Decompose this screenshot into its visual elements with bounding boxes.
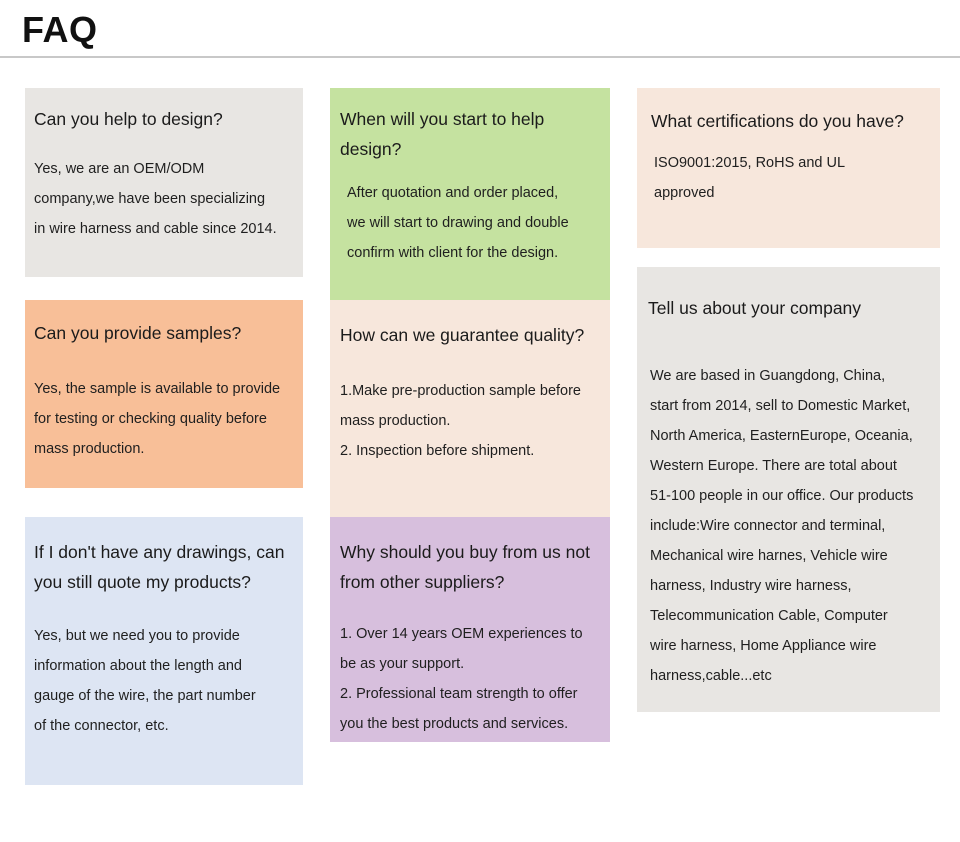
faq-question: What certifications do you have? [651,106,926,136]
page-title: FAQ [22,8,98,52]
faq-answer: After quotation and order placed, we wil… [347,178,596,268]
faq-question: Why should you buy from us not from othe… [340,537,596,597]
faq-answer: Yes, the sample is available to provide … [34,374,289,464]
faq-card-drawings: If I don't have any drawings, can you st… [25,517,303,785]
faq-question: Tell us about your company [648,293,926,323]
faq-question: Can you help to design? [34,104,287,134]
faq-card-start-design: When will you start to help design? Afte… [330,88,610,306]
faq-card-samples: Can you provide samples? Yes, the sample… [25,300,303,488]
faq-answer: 1. Over 14 years OEM experiences to be a… [340,619,596,739]
page-header: FAQ [0,0,960,58]
faq-card-design: Can you help to design? Yes, we are an O… [25,88,303,277]
faq-answer: Yes, we are an OEM/ODM company,we have b… [34,154,287,244]
faq-card-quality: How can we guarantee quality? 1.Make pre… [330,300,610,546]
faq-answer: 1.Make pre-production sample before mass… [340,376,596,466]
faq-answer: Yes, but we need you to provide informat… [34,621,289,741]
faq-question: Can you provide samples? [34,318,289,348]
faq-question: When will you start to help design? [340,104,596,164]
faq-question: How can we guarantee quality? [340,320,596,350]
faq-answer: ISO9001:2015, RoHS and UL approved [654,148,926,208]
faq-card-grid: Can you help to design? Yes, we are an O… [0,58,960,842]
faq-card-certifications: What certifications do you have? ISO9001… [637,88,940,248]
faq-answer: We are based in Guangdong, China, start … [650,361,926,691]
faq-card-why-buy: Why should you buy from us not from othe… [330,517,610,742]
faq-card-company: Tell us about your company We are based … [637,267,940,712]
faq-question: If I don't have any drawings, can you st… [34,537,289,597]
